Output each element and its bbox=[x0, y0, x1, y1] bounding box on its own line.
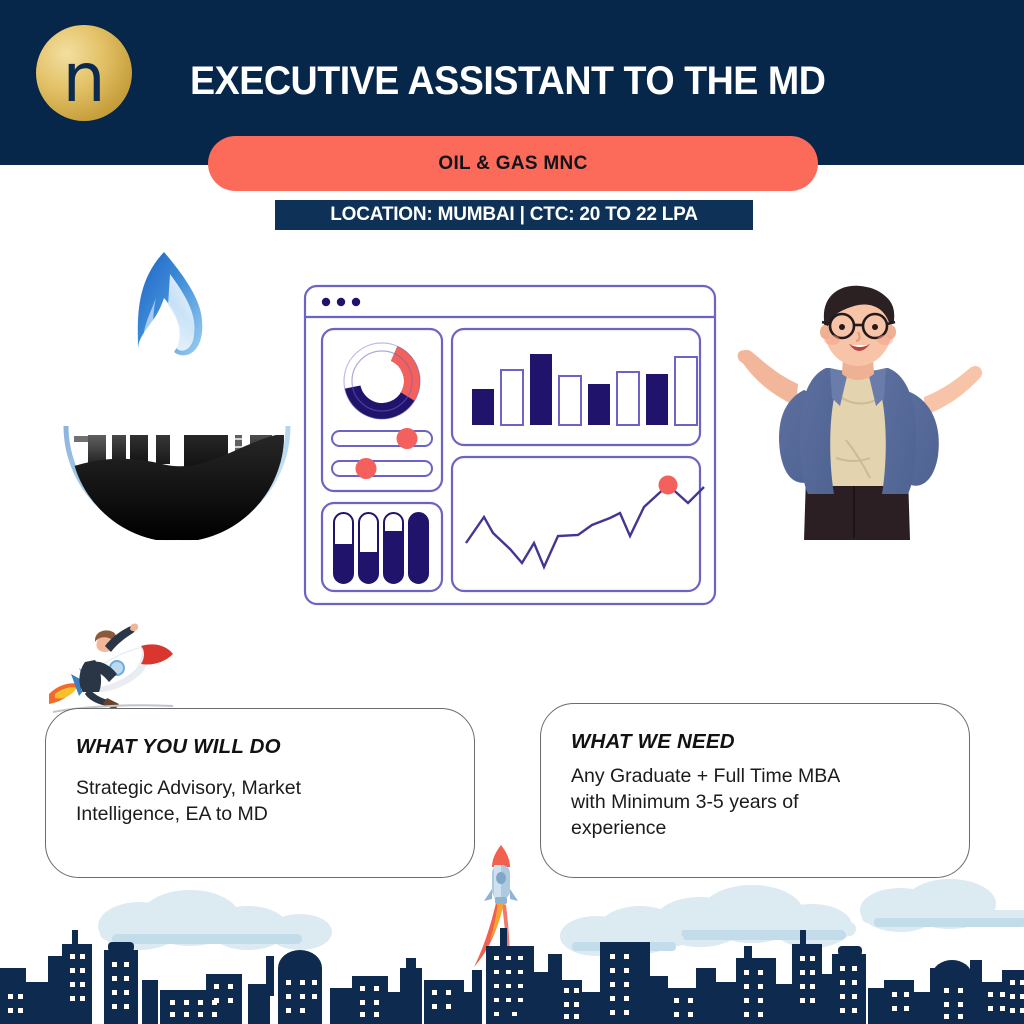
line-chart-marker bbox=[659, 476, 678, 495]
slider-2-handle bbox=[356, 458, 377, 479]
right-hand bbox=[924, 366, 982, 416]
what-you-will-do-card: WHAT YOU WILL DO Strategic Advisory, Mar… bbox=[45, 708, 475, 878]
what-you-will-do-body: Strategic Advisory, Market Intelligence,… bbox=[76, 776, 444, 828]
jacket-right bbox=[881, 368, 916, 494]
what-we-need-title: WHAT WE NEED bbox=[571, 730, 939, 754]
slider-1 bbox=[332, 428, 432, 449]
rocket-nose bbox=[492, 845, 510, 867]
what-you-will-do-title: WHAT YOU WILL DO bbox=[76, 735, 444, 759]
city-skyline-silhouette bbox=[0, 884, 1024, 1024]
what-we-need-card: WHAT WE NEED Any Graduate + Full Time MB… bbox=[540, 703, 970, 878]
oil-gas-refinery-icon bbox=[52, 240, 302, 560]
logo-letter: n bbox=[62, 45, 105, 113]
donut-chart bbox=[342, 341, 421, 420]
slider-2 bbox=[332, 458, 432, 479]
what-we-need-body: Any Graduate + Full Time MBA with Minimu… bbox=[571, 764, 939, 842]
location-ctc-label: LOCATION: MUMBAI | CTC: 20 TO 22 LPA bbox=[330, 204, 698, 226]
analytics-dashboard-illustration bbox=[300, 281, 722, 611]
slider-1-handle bbox=[397, 428, 418, 449]
company-badge: OIL & GAS MNC bbox=[208, 136, 818, 191]
company-badge-label: OIL & GAS MNC bbox=[438, 153, 587, 175]
clouds bbox=[98, 879, 1024, 956]
jacket-left bbox=[800, 368, 835, 494]
businessman-presenting-illustration bbox=[718, 280, 998, 555]
line-chart bbox=[466, 476, 704, 568]
job-poster: n EXECUTIVE ASSISTANT TO THE MD OIL & GA… bbox=[0, 0, 1024, 1024]
window-dots bbox=[322, 298, 360, 306]
company-logo: n bbox=[36, 25, 132, 121]
page-title: EXECUTIVE ASSISTANT TO THE MD bbox=[190, 50, 848, 112]
gauge-bars bbox=[334, 513, 428, 584]
gas-flame-icon bbox=[138, 252, 203, 355]
location-ctc-bar: LOCATION: MUMBAI | CTC: 20 TO 22 LPA bbox=[275, 200, 753, 230]
bar-chart bbox=[472, 354, 697, 425]
businessman-on-rocket-illustration bbox=[45, 612, 175, 717]
